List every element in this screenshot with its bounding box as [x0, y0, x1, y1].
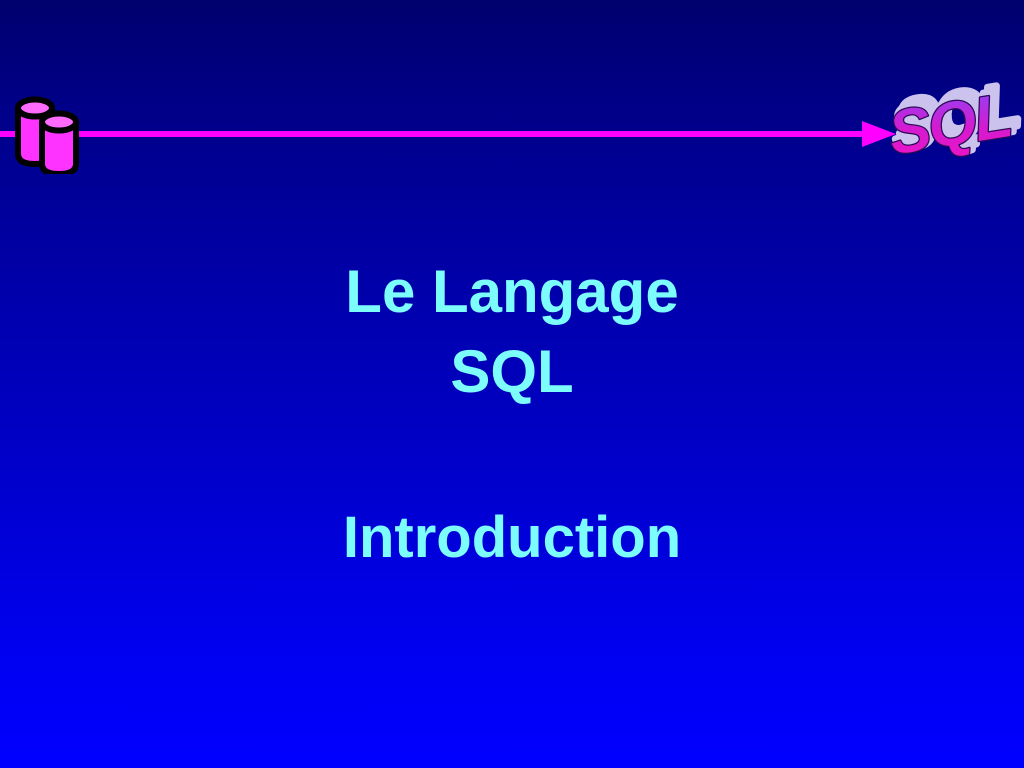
title-line-1: Le Langage [0, 252, 1024, 332]
slide-header-band: SQL SQL SQL [0, 0, 1024, 180]
subtitle-line-1: Introduction [0, 500, 1024, 575]
database-cylinders-icon [12, 92, 92, 174]
magenta-rule-line [0, 131, 868, 137]
page-title: Le Langage SQL [0, 252, 1024, 412]
title-line-2: SQL [0, 332, 1024, 412]
slide-canvas: SQL SQL SQL Le Langage SQL Introduction [0, 0, 1024, 768]
sql-logo: SQL SQL SQL [884, 82, 1024, 182]
page-subtitle: Introduction [0, 500, 1024, 575]
